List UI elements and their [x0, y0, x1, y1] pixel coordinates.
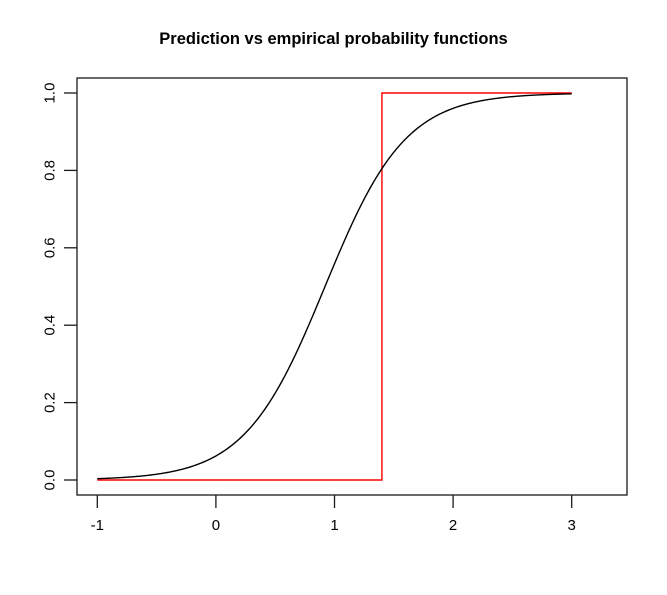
y-axis-ticks: 0.00.20.40.60.81.0 — [42, 83, 78, 491]
x-tick-label: 0 — [212, 517, 220, 534]
x-tick-label: 3 — [568, 517, 576, 534]
y-tick-label: 0.2 — [42, 392, 59, 413]
y-tick-label: 0.4 — [42, 315, 59, 336]
y-tick-label: 0.0 — [42, 470, 59, 491]
x-axis-ticks: -10123 — [91, 495, 576, 534]
plot-frame — [77, 78, 627, 495]
y-tick-label: 0.8 — [42, 160, 59, 181]
series-empirical-step — [97, 93, 571, 480]
series-prediction-curve — [97, 94, 571, 479]
x-tick-label: 1 — [330, 517, 338, 534]
x-tick-label: -1 — [91, 517, 104, 534]
y-tick-label: 0.6 — [42, 237, 59, 258]
plot-area: -10123 0.00.20.40.60.81.0 — [0, 0, 667, 595]
x-tick-label: 2 — [449, 517, 457, 534]
y-tick-label: 1.0 — [42, 83, 59, 104]
figure-canvas: Prediction vs empirical probability func… — [0, 0, 667, 595]
